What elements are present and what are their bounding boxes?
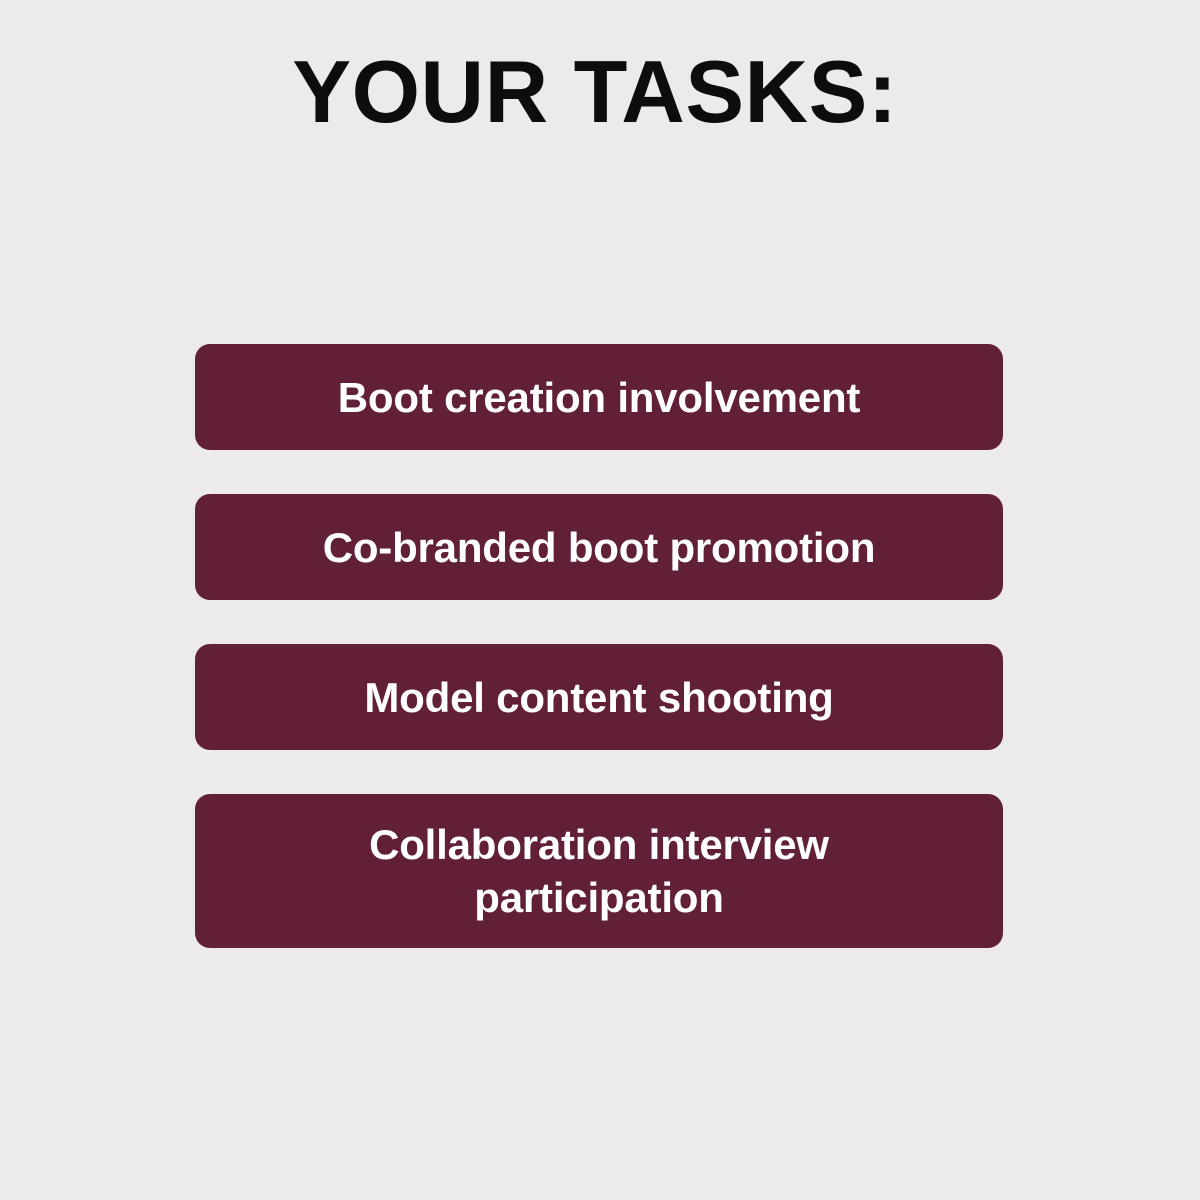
task-label: Co-branded boot promotion xyxy=(323,521,876,574)
task-label: Boot creation involvement xyxy=(338,371,860,424)
task-card-2[interactable]: Co-branded boot promotion xyxy=(195,494,1003,600)
task-card-4[interactable]: Collaboration interview participation xyxy=(195,794,1003,948)
task-card-1[interactable]: Boot creation involvement xyxy=(195,344,1003,450)
task-card-3[interactable]: Model content shooting xyxy=(195,644,1003,750)
task-list: Boot creation involvement Co-branded boo… xyxy=(195,344,1003,948)
page-title: YOUR TASKS: xyxy=(0,46,1190,138)
tasks-slide: YOUR TASKS: Boot creation involvement Co… xyxy=(0,0,1200,1200)
task-label: Model content shooting xyxy=(364,671,833,724)
task-label: Collaboration interview participation xyxy=(369,818,829,924)
